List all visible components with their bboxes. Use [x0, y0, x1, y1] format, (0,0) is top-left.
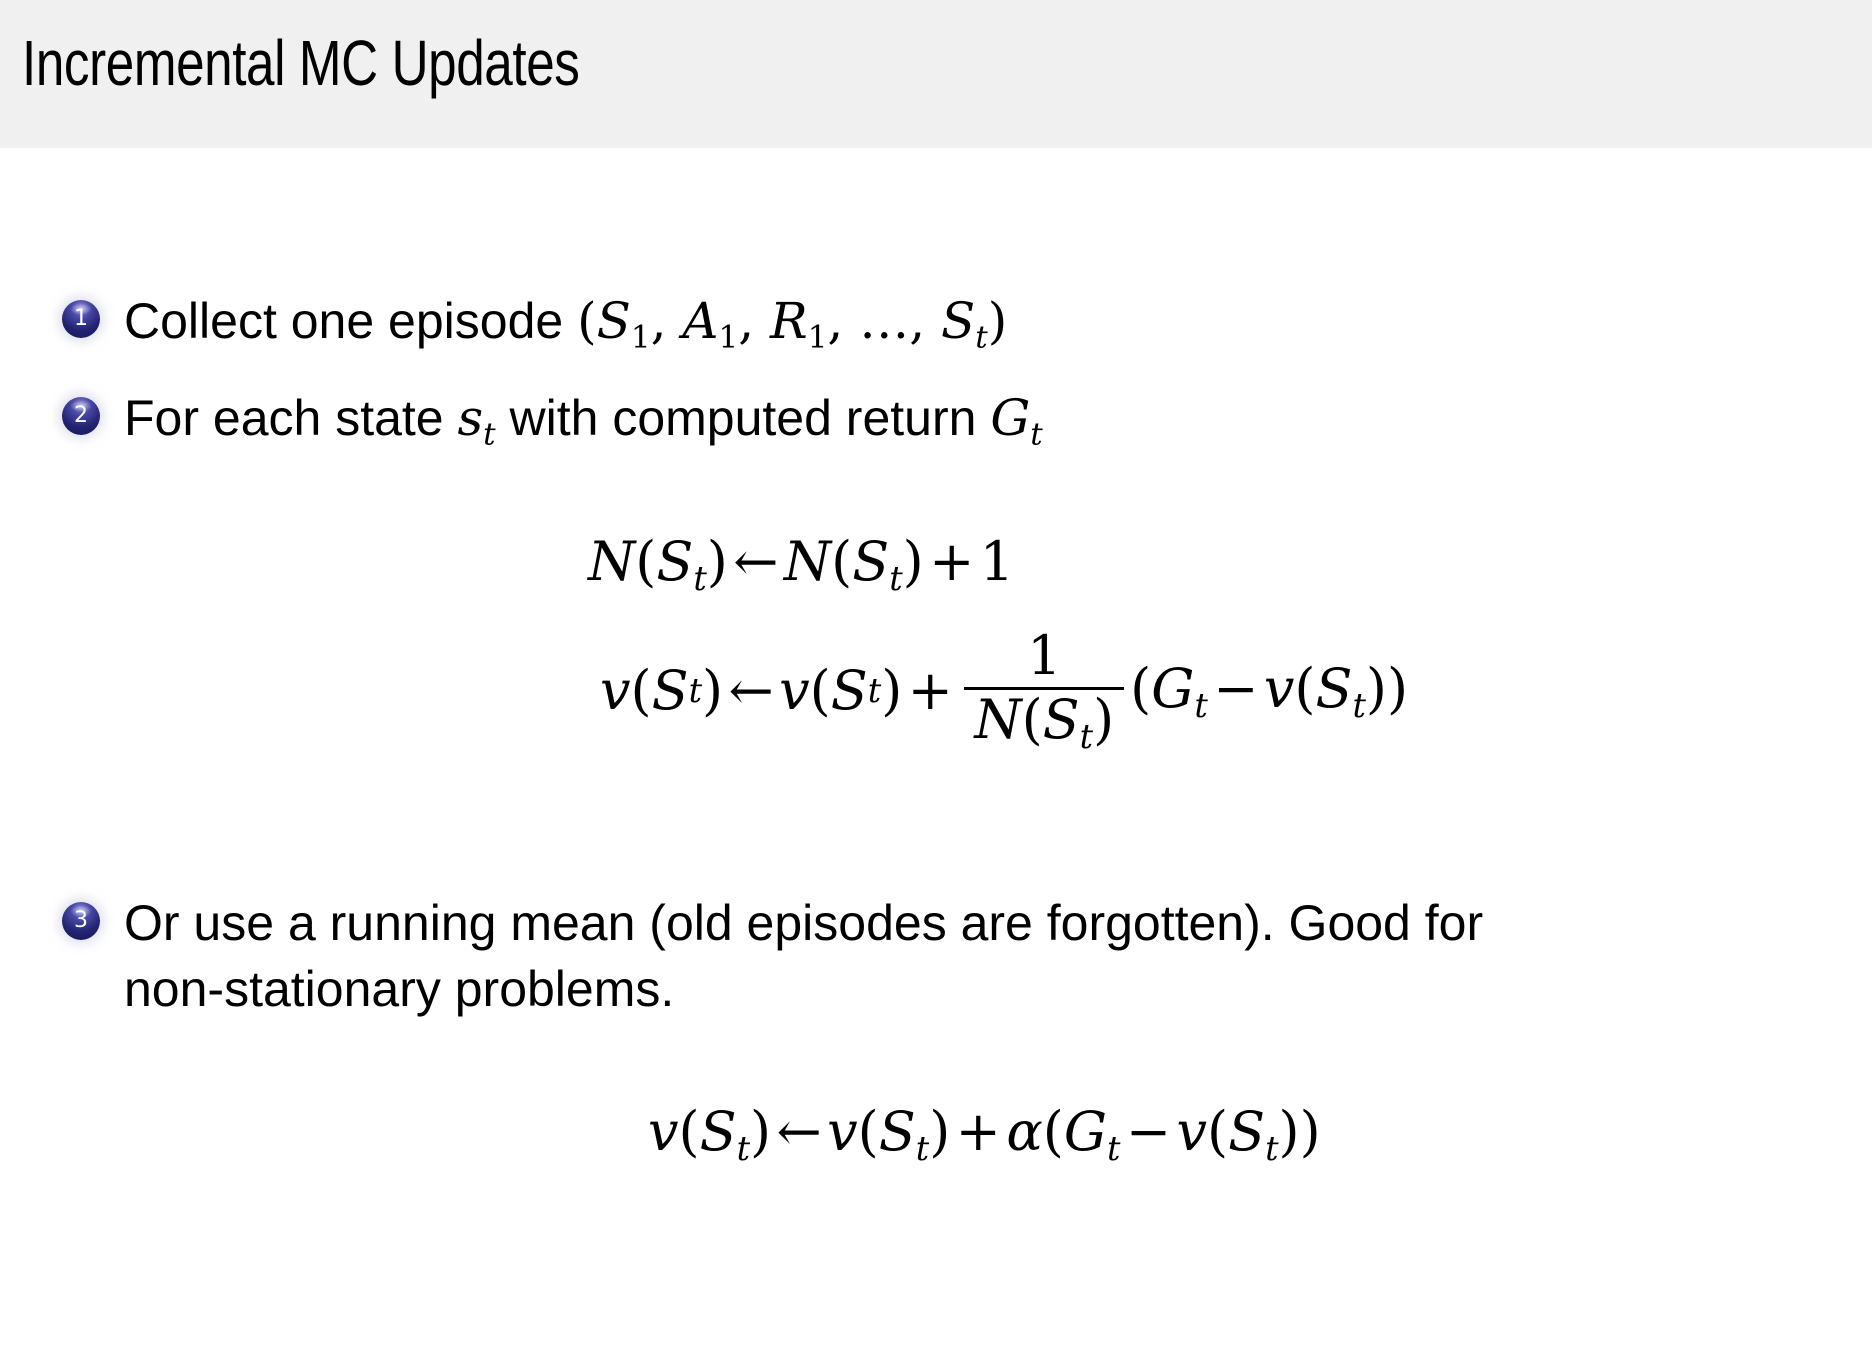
- enum-bullet-1-number: 1: [74, 306, 88, 331]
- eq2-lhs-open: (: [631, 659, 652, 722]
- slide-body: 1 Collect one episode (S1, A1, R1, …, St…: [0, 148, 1872, 1356]
- eq2-tail: (Gt−v(St)): [1130, 657, 1408, 725]
- eq2-tail-v-sub: t: [1352, 686, 1365, 725]
- equation-2-expression: v(St)←v(St)+ 1 N(St) (Gt−v(St)): [600, 628, 1408, 754]
- eq2-lhs-sub: t: [689, 671, 702, 710]
- eq3-tail-v-close: ): [1279, 1100, 1300, 1163]
- return-g: G: [990, 389, 1030, 447]
- action-a1-sub: 1: [719, 319, 739, 355]
- reward-r1-sub: 1: [808, 319, 828, 355]
- comma-1: ,: [651, 292, 683, 350]
- enum-bullet-3: 3: [62, 902, 100, 940]
- eq1-lhs-var: S: [656, 530, 693, 593]
- eq2-den-open: (: [1022, 688, 1043, 751]
- eq3-tail-v: v: [1176, 1100, 1207, 1163]
- eq2-lhs-var: S: [652, 659, 689, 722]
- comma-2: ,: [738, 292, 770, 350]
- state-s1-sub: 1: [631, 319, 651, 355]
- eq3-tail-close: ): [1300, 1100, 1321, 1163]
- eq1-rhs-open: (: [831, 530, 852, 593]
- eq3-rhs-close: ): [929, 1100, 950, 1163]
- eq3-assign-arrow: ←: [771, 1100, 827, 1163]
- eq2-fraction-numerator: 1: [1017, 628, 1071, 687]
- action-a1: A: [682, 292, 718, 350]
- eq2-tail-g-sub: t: [1194, 686, 1207, 725]
- eq2-tail-v-open: (: [1294, 657, 1315, 720]
- eq3-alpha: α: [1006, 1100, 1042, 1163]
- eq1-lhs-sub: t: [693, 559, 706, 598]
- eq1-assign-arrow: ←: [728, 530, 784, 593]
- list-item-3-line1: Or use a running mean (old episodes are …: [124, 890, 1774, 956]
- comma-3: ,: [827, 292, 859, 350]
- reward-r1: R: [770, 292, 808, 350]
- eq2-plus: +: [902, 659, 958, 722]
- paren-close: ): [988, 292, 1008, 350]
- eq2-fraction-denominator: N(St): [964, 690, 1124, 754]
- enum-bullet-2-number: 2: [74, 403, 88, 428]
- eq1-lhs-open: (: [635, 530, 656, 593]
- eq2-rhs-var: S: [831, 659, 868, 722]
- eq2-lhs-fn: v: [600, 659, 631, 722]
- eq3-tail-v-open: (: [1207, 1100, 1228, 1163]
- eq3-minus: −: [1120, 1100, 1176, 1163]
- enum-bullet-1: 1: [62, 300, 100, 338]
- eq3-tail-v-sub: t: [1265, 1129, 1278, 1168]
- list-item-2-math-return: Gt: [990, 389, 1042, 447]
- eq1-one: 1: [980, 530, 1014, 593]
- eq2-den-sub: t: [1080, 717, 1093, 756]
- equation-3-expression: v(St)←v(St)+α(Gt−v(St)): [648, 1100, 1321, 1163]
- list-item-3-line2: non-stationary problems.: [124, 956, 1774, 1022]
- eq2-den-var: S: [1043, 688, 1080, 751]
- list-item-2-text: For each state st with computed return G…: [124, 385, 1043, 455]
- list-item-2-math-state: st: [458, 389, 496, 447]
- ellipsis: …: [859, 292, 909, 350]
- eq2-minus: −: [1208, 657, 1264, 720]
- eq3-rhs-open: (: [858, 1100, 879, 1163]
- eq3-tail-g: G: [1064, 1100, 1107, 1163]
- list-item-2: 2 For each state st with computed return…: [62, 385, 1043, 455]
- eq2-assign-arrow: ←: [723, 659, 779, 722]
- eq1-rhs-close: ): [903, 530, 924, 593]
- list-item-1-prefix: Collect one episode: [124, 293, 577, 349]
- eq2-tail-v-close: ): [1366, 657, 1387, 720]
- eq2-lhs-close: ): [702, 659, 723, 722]
- eq2-rhs-fn: v: [779, 659, 810, 722]
- enum-bullet-3-number: 3: [74, 908, 88, 933]
- eq3-lhs-open: (: [679, 1100, 700, 1163]
- eq3-lhs-fn: v: [648, 1100, 679, 1163]
- eq2-den-fn: N: [974, 688, 1021, 751]
- eq2-rhs-sub: t: [868, 671, 881, 710]
- state-s-sub: t: [483, 416, 495, 452]
- eq2-tail-close: ): [1387, 657, 1408, 720]
- equation-count-update: N(St)←N(St)+1: [588, 530, 1014, 598]
- eq1-rhs-fn: N: [784, 530, 831, 593]
- eq1-rhs-var: S: [852, 530, 889, 593]
- comma-4: ,: [909, 292, 941, 350]
- state-st: S: [941, 292, 975, 350]
- list-item-2-prefix: For each state: [124, 390, 458, 446]
- page-title: Incremental MC Updates: [22, 26, 579, 100]
- eq3-lhs-close: ): [750, 1100, 771, 1163]
- eq1-plus: +: [924, 530, 980, 593]
- return-g-sub: t: [1030, 416, 1042, 452]
- eq2-den-close: ): [1093, 688, 1114, 751]
- eq1-lhs-close: ): [707, 530, 728, 593]
- list-item-3: 3 Or use a running mean (old episodes ar…: [62, 890, 1774, 1022]
- eq2-tail-v: v: [1264, 657, 1295, 720]
- eq3-plus: +: [950, 1100, 1006, 1163]
- equation-1-expression: N(St)←N(St)+1: [588, 530, 1014, 593]
- eq1-lhs-fn: N: [588, 530, 635, 593]
- equation-value-update-alpha: v(St)←v(St)+α(Gt−v(St)): [648, 1100, 1321, 1168]
- state-s1: S: [597, 292, 631, 350]
- eq3-tail-v-var: S: [1228, 1100, 1265, 1163]
- eq2-rhs-open: (: [810, 659, 831, 722]
- eq2-tail-g: G: [1151, 657, 1194, 720]
- eq3-tail-open: (: [1043, 1100, 1064, 1163]
- state-s: s: [458, 389, 484, 447]
- eq3-rhs-fn: v: [827, 1100, 858, 1163]
- eq3-rhs-var: S: [879, 1100, 916, 1163]
- eq3-lhs-var: S: [700, 1100, 737, 1163]
- state-st-sub: t: [975, 319, 987, 355]
- equation-value-update-count: v(St)←v(St)+ 1 N(St) (Gt−v(St)): [600, 628, 1408, 754]
- eq3-tail-g-sub: t: [1107, 1129, 1120, 1168]
- eq1-rhs-sub: t: [889, 559, 902, 598]
- eq3-rhs-sub: t: [916, 1129, 929, 1168]
- list-item-2-middle: with computed return: [496, 390, 991, 446]
- slide-header-band: Incremental MC Updates: [0, 0, 1872, 148]
- eq2-fraction: 1 N(St): [964, 628, 1124, 754]
- list-item-1: 1 Collect one episode (S1, A1, R1, …, St…: [62, 288, 1007, 358]
- list-item-1-math: (S1, A1, R1, …, St): [577, 292, 1007, 350]
- eq2-rhs-close: ): [881, 659, 902, 722]
- list-item-3-text: Or use a running mean (old episodes are …: [124, 890, 1774, 1022]
- eq2-tail-open: (: [1130, 657, 1151, 720]
- enum-bullet-2: 2: [62, 397, 100, 435]
- eq3-lhs-sub: t: [737, 1129, 750, 1168]
- paren-open: (: [577, 292, 597, 350]
- eq2-tail-v-var: S: [1315, 657, 1352, 720]
- list-item-1-text: Collect one episode (S1, A1, R1, …, St): [124, 288, 1007, 358]
